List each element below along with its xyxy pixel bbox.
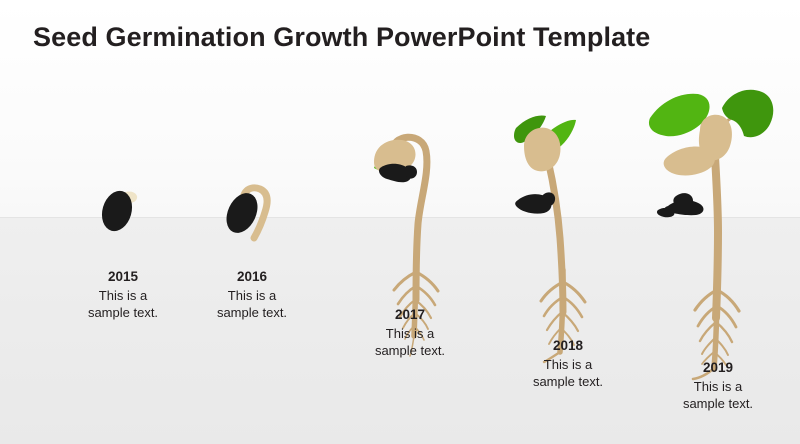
caption-text: This is a sample text. bbox=[172, 287, 332, 321]
caption-2016: 2016 This is a sample text. bbox=[172, 268, 332, 321]
caption-2019: 2019 This is a sample text. bbox=[638, 359, 798, 412]
hooked-seedling-illustration bbox=[330, 0, 490, 444]
slide-canvas: Seed Germination Growth PowerPoint Templ… bbox=[0, 0, 800, 444]
caption-year: 2018 bbox=[488, 337, 648, 354]
stage-2016: 2016 This is a sample text. bbox=[172, 0, 332, 444]
caption-text: This is a sample text. bbox=[488, 356, 648, 390]
seed-body bbox=[524, 128, 560, 172]
caption-year: 2017 bbox=[330, 306, 490, 323]
caption-year: 2016 bbox=[172, 268, 332, 285]
caption-text: This is a sample text. bbox=[330, 325, 490, 359]
seed-coat-debris bbox=[657, 193, 704, 217]
caption-year: 2019 bbox=[638, 359, 798, 376]
seed-coat-fragment bbox=[379, 164, 417, 183]
caption-text: This is a sample text. bbox=[638, 378, 798, 412]
stage-2017: 2017 This is a sample text. bbox=[330, 0, 490, 444]
stage-2018: 2018 This is a sample text. bbox=[488, 0, 648, 444]
caption-2018: 2018 This is a sample text. bbox=[488, 337, 648, 390]
caption-2017: 2017 This is a sample text. bbox=[330, 306, 490, 359]
seed-coat-fragment bbox=[515, 192, 555, 213]
cotyledon-left bbox=[664, 146, 715, 175]
seed-with-radicle-illustration bbox=[172, 0, 332, 444]
stage-2019: 2019 This is a sample text. bbox=[638, 0, 798, 444]
